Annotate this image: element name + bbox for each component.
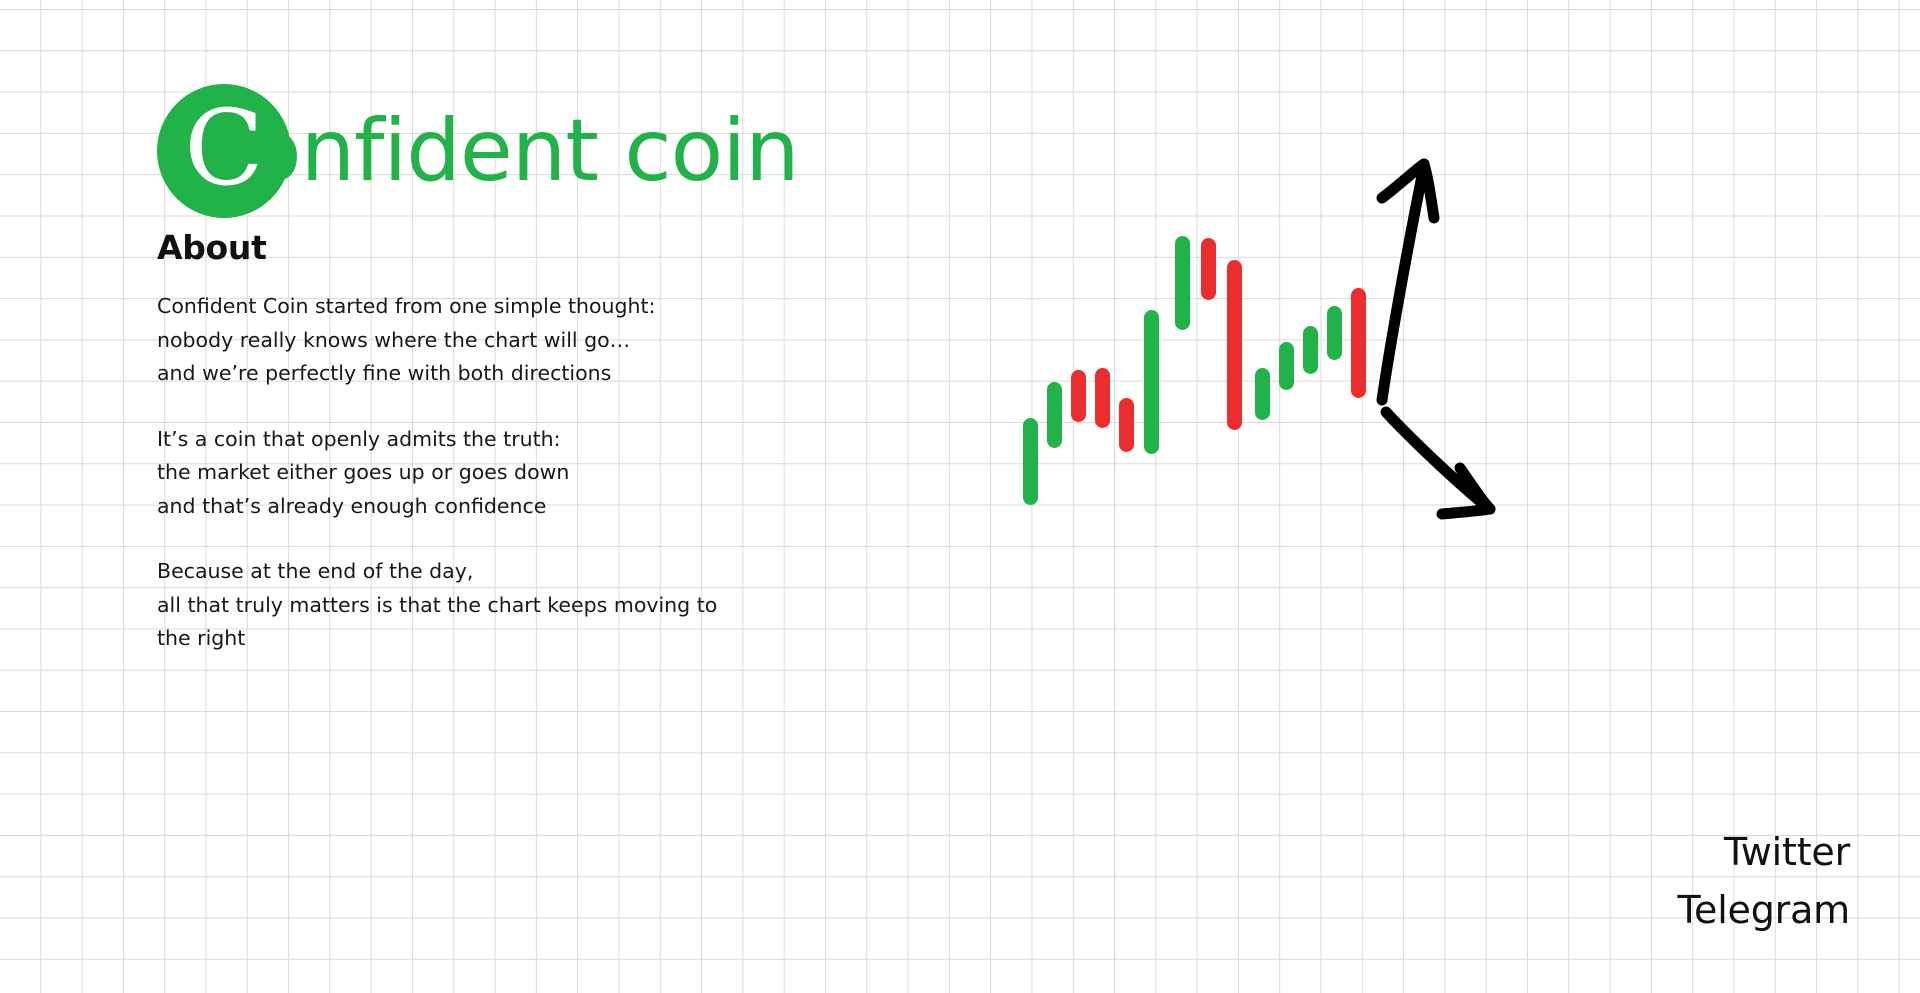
candle-down-4 (1095, 368, 1110, 428)
chart-direction-arrows (1360, 130, 1540, 520)
candle-up-12 (1303, 326, 1318, 374)
about-line: Confident Coin started from one simple t… (157, 290, 917, 324)
social-link-telegram[interactable]: Telegram (1677, 881, 1850, 939)
candle-up-6 (1144, 310, 1159, 454)
about-line: nobody really knows where the chart will… (157, 324, 917, 358)
about-line: and we’re perfectly fine with both direc… (157, 357, 917, 391)
candle-up-13 (1327, 306, 1342, 360)
candle-up-7 (1175, 236, 1190, 330)
about-heading: About (157, 231, 917, 264)
candle-up-10 (1255, 368, 1270, 420)
about-paragraph-3: Because at the end of the day, all that … (157, 555, 917, 656)
about-paragraph-2: It’s a coin that openly admits the truth… (157, 423, 917, 524)
down-arrow-icon (1386, 412, 1490, 514)
about-line: the market either goes up or goes down (157, 456, 917, 490)
candle-down-8 (1201, 238, 1216, 300)
logo-circle-badge: C (157, 84, 291, 218)
up-arrow-icon (1382, 164, 1434, 400)
page-content: C onfident coin About Confident Coin sta… (0, 0, 1920, 993)
brand-logo: C onfident coin (157, 84, 799, 218)
candle-down-9 (1227, 260, 1242, 430)
candle-down-3 (1071, 370, 1086, 422)
logo-letter-c: C (184, 96, 264, 200)
about-line: It’s a coin that openly admits the truth… (157, 423, 917, 457)
candle-down-5 (1119, 398, 1134, 452)
about-section: About Confident Coin started from one si… (157, 231, 917, 656)
brand-wordmark: onfident coin (249, 108, 799, 194)
candle-up-1 (1023, 418, 1038, 505)
arrows-svg (1360, 130, 1540, 520)
candle-up-2 (1047, 382, 1062, 448)
candle-up-11 (1279, 342, 1294, 390)
about-line: Because at the end of the day, (157, 555, 917, 589)
about-paragraph-1: Confident Coin started from one simple t… (157, 290, 917, 391)
about-line: all that truly matters is that the chart… (157, 589, 757, 656)
social-link-twitter[interactable]: Twitter (1677, 823, 1850, 881)
about-line: and that’s already enough confidence (157, 490, 917, 524)
social-links: Twitter Telegram (1677, 823, 1850, 939)
